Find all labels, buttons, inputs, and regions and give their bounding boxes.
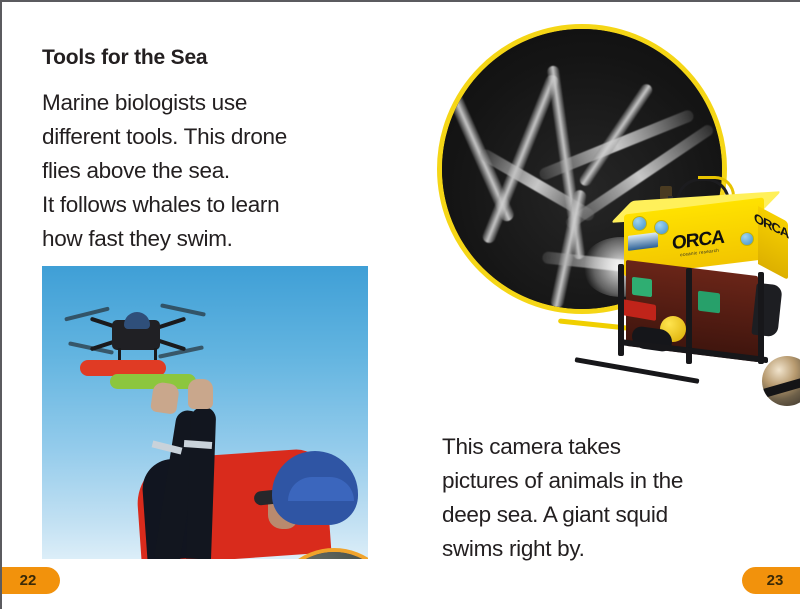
body-line: how fast they swim. [42, 222, 382, 256]
orca-deep-sea-camera: ORCA oceanic research ORCA [602, 172, 800, 387]
sea-surface [274, 552, 368, 559]
page-title: Tools for the Sea [42, 46, 207, 70]
drone-propeller [160, 303, 206, 316]
drone-camera-dome [124, 312, 150, 329]
page-number-badge-right: 23 [742, 567, 800, 594]
body-line: deep sea. A giant squid [442, 498, 792, 532]
left-page: Tools for the Sea Marine biologists use … [2, 2, 402, 609]
raised-arm [186, 407, 216, 559]
frame-bar [758, 272, 764, 364]
body-line: different tools. This drone [42, 120, 382, 154]
book-page-spread: Tools for the Sea Marine biologists use … [0, 0, 800, 609]
drone-propeller [64, 306, 110, 321]
camera-port-icon [654, 220, 669, 235]
green-module [698, 291, 720, 314]
body-line: pictures of animals in the [442, 464, 792, 498]
frame-bar [575, 357, 700, 384]
camera-port-icon [632, 216, 647, 231]
body-line: swims right by. [442, 532, 792, 566]
green-module [632, 277, 652, 297]
helmet-highlight [288, 477, 354, 501]
sphere-band [762, 374, 800, 399]
right-page-body-text: This camera takes pictures of animals in… [442, 430, 792, 566]
researcher-figure [138, 389, 368, 559]
hand [188, 379, 213, 409]
drone-over-sea-photo [42, 266, 368, 559]
hand [150, 381, 180, 414]
body-line: This camera takes [442, 430, 792, 464]
page-number-badge-left: 22 [2, 567, 60, 594]
left-page-body-text: Marine biologists use different tools. T… [42, 86, 382, 256]
glass-float-sphere [762, 356, 800, 406]
body-line: Marine biologists use [42, 86, 382, 120]
body-line: flies above the sea. [42, 154, 382, 188]
side-fin [751, 283, 782, 337]
right-page: ORCA oceanic research ORCA This camera t… [402, 2, 800, 609]
page-number-right: 23 [767, 572, 784, 589]
quadcopter-drone [66, 294, 206, 389]
page-number-left: 22 [20, 572, 37, 589]
camera-port-icon [740, 232, 754, 246]
body-line: It follows whales to learn [42, 188, 382, 222]
